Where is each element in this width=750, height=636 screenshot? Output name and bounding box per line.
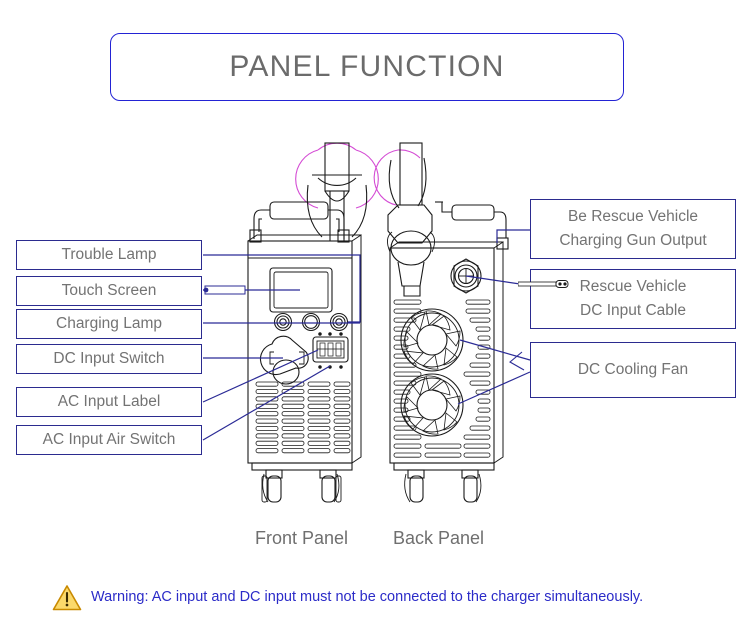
callout-rescue-vehicle-dc-input-cable[interactable]: Rescue Vehicle DC Input Cable — [530, 269, 736, 329]
warning-triangle-icon — [52, 584, 82, 611]
callout-label-line-2: Charging Gun Output — [559, 229, 706, 253]
warning-text: Warning: AC input and DC input must not … — [91, 589, 643, 605]
callout-rescue-vehicle-charging-gun-output[interactable]: Be Rescue Vehicle Charging Gun Output — [530, 199, 736, 259]
front-panel-caption: Front Panel — [255, 528, 348, 549]
callout-label-line-1: DC Cooling Fan — [578, 358, 688, 382]
panel-function-diagram: PANEL FUNCTION — [0, 0, 750, 636]
callout-label-text: AC Input Label — [58, 393, 161, 411]
callout-ac-input-label[interactable]: AC Input Label — [16, 387, 202, 417]
back-panel-caption: Back Panel — [393, 528, 484, 549]
callout-touch-screen[interactable]: Touch Screen — [16, 276, 202, 306]
callout-label-line-2: DC Input Cable — [580, 299, 686, 323]
callout-label-text: AC Input Air Switch — [43, 431, 176, 449]
callout-label-line-1: Be Rescue Vehicle — [568, 205, 698, 229]
callout-ac-input-air-switch[interactable]: AC Input Air Switch — [16, 425, 202, 455]
callout-dc-input-switch[interactable]: DC Input Switch — [16, 344, 202, 374]
callout-trouble-lamp[interactable]: Trouble Lamp — [16, 240, 202, 270]
callout-label-text: Trouble Lamp — [61, 246, 156, 264]
callout-charging-lamp[interactable]: Charging Lamp — [16, 309, 202, 339]
warning-row: Warning: AC input and DC input must not … — [52, 578, 712, 616]
cable-plug-icon — [518, 279, 570, 289]
callout-dc-cooling-fan[interactable]: DC Cooling Fan — [530, 342, 736, 398]
callout-label-line-1: Rescue Vehicle — [580, 275, 687, 299]
callout-label-text: DC Input Switch — [53, 350, 164, 368]
callout-label-text: Touch Screen — [62, 282, 157, 300]
callout-label-text: Charging Lamp — [56, 315, 162, 333]
